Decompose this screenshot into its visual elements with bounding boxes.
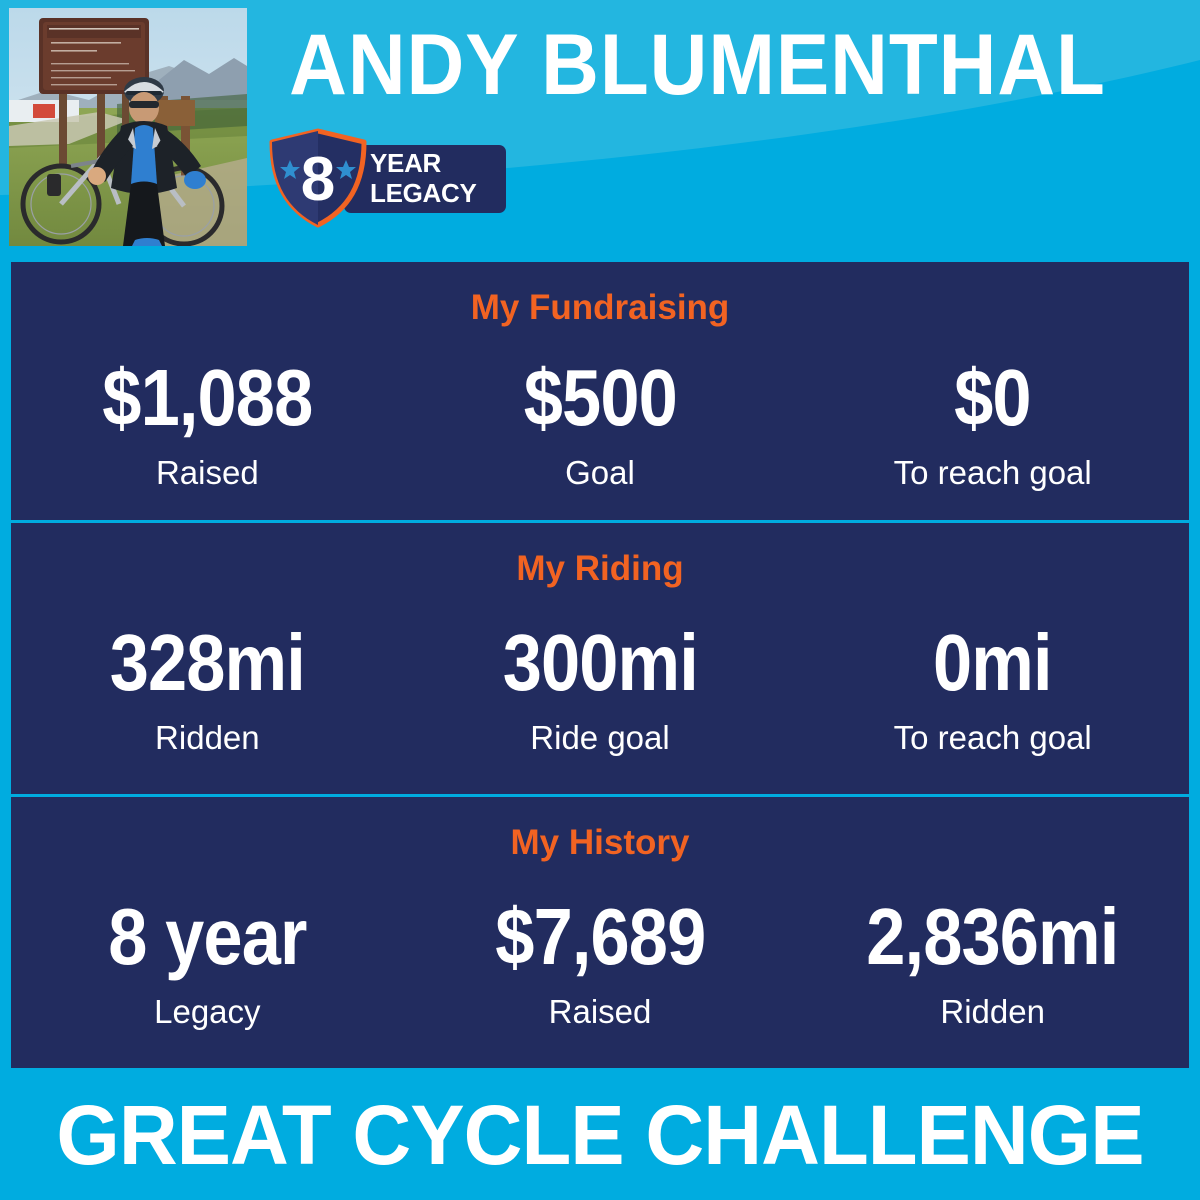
stat-raised-label: Raised [11,452,404,494]
stat-legacy-value: 8 year [35,889,381,985]
svg-text:8: 8 [301,145,335,214]
stat-ride-goal-label: Ride goal [404,717,797,759]
stat-ride-to-reach-goal-label: To reach goal [796,717,1189,759]
stat-legacy: 8 year Legacy [11,889,404,1033]
stat-history-ridden-label: Ridden [796,991,1189,1033]
legacy-badge-line2: LEGACY [370,178,500,208]
fundraising-poster: ANDY BLUMENTHAL YEAR LEGACY 8 My Fundrai… [0,0,1200,1200]
stat-ride-goal: 300mi Ride goal [404,615,797,759]
stat-to-reach-goal-label: To reach goal [796,452,1189,494]
stat-to-reach-goal: $0 To reach goal [796,350,1189,494]
stat-history-raised-value: $7,689 [427,889,773,985]
legacy-badge-line1: YEAR [370,148,500,178]
profile-photo [9,8,247,246]
shield-icon: 8 [266,128,370,228]
profile-photo-image [9,8,247,246]
section-title-history: My History [11,823,1189,863]
section-riding: My Riding 328mi Ridden 300mi Ride goal 0… [11,520,1189,794]
stat-row-riding: 328mi Ridden 300mi Ride goal 0mi To reac… [11,615,1189,759]
stat-goal: $500 Goal [404,350,797,494]
stat-to-reach-goal-value: $0 [820,350,1166,446]
legacy-badge-plate-text: YEAR LEGACY [370,148,500,208]
legacy-badge: YEAR LEGACY 8 [266,128,506,228]
stat-ridden: 328mi Ridden [11,615,404,759]
stat-raised: $1,088 Raised [11,350,404,494]
stat-legacy-label: Legacy [11,991,404,1033]
stat-ridden-value: 328mi [35,615,381,711]
stat-history-raised-label: Raised [404,991,797,1033]
stat-history-ridden: 2,836mi Ridden [796,889,1189,1033]
stats-panel: My Fundraising $1,088 Raised $500 Goal $… [11,262,1189,1068]
stat-goal-label: Goal [404,452,797,494]
stat-goal-value: $500 [427,350,773,446]
page-title: ANDY BLUMENTHAL [289,17,1010,113]
stat-history-raised: $7,689 Raised [404,889,797,1033]
stat-history-ridden-value: 2,836mi [820,889,1166,985]
poster-header: ANDY BLUMENTHAL YEAR LEGACY 8 [0,0,1200,262]
great-cycle-challenge-logo: GREAT CYCLE CHALLENGE [37,1090,1162,1180]
stat-row-history: 8 year Legacy $7,689 Raised 2,836mi Ridd… [11,889,1189,1033]
stat-ride-to-reach-goal-value: 0mi [820,615,1166,711]
stat-ridden-label: Ridden [11,717,404,759]
section-fundraising: My Fundraising $1,088 Raised $500 Goal $… [11,262,1189,520]
stat-row-fundraising: $1,088 Raised $500 Goal $0 To reach goal [11,350,1189,494]
section-title-fundraising: My Fundraising [11,288,1189,328]
stat-raised-value: $1,088 [35,350,381,446]
section-title-riding: My Riding [11,549,1189,589]
poster-footer: GREAT CYCLE CHALLENGE [0,1068,1200,1200]
stat-ride-goal-value: 300mi [427,615,773,711]
stat-ride-to-reach-goal: 0mi To reach goal [796,615,1189,759]
section-history: My History 8 year Legacy $7,689 Raised 2… [11,794,1189,1065]
